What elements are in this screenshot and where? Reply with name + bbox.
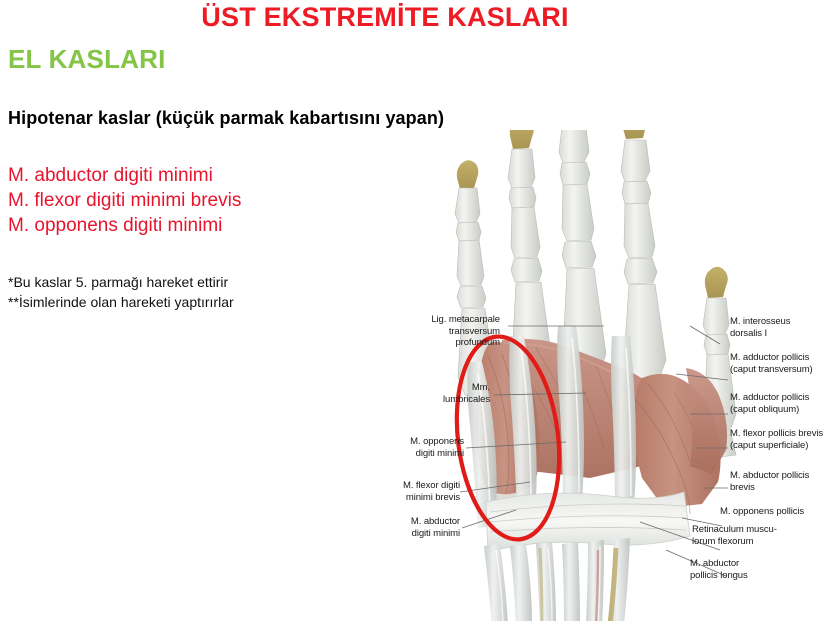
slide-root: ÜST EKSTREMİTE KASLARI EL KASLARI Hipote… (0, 0, 828, 621)
label-retinaculum-musculorum-flexorum: Retinaculum muscu- lorum flexorum (692, 524, 777, 547)
hand-anatomy-svg (390, 130, 828, 621)
topic-heading: Hipotenar kaslar (küçük parmak kabartısı… (8, 108, 444, 129)
label-m-interosseus-dorsalis-i: M. interosseus dorsalis I (730, 316, 790, 339)
muscle-list: M. abductor digiti minimi M. flexor digi… (8, 163, 241, 238)
label-m-abductor-pollicis-longus: M. abductor pollicis longus (690, 558, 748, 581)
footnote-line: *Bu kaslar 5. parmağı hareket ettirir (8, 272, 234, 292)
label-lig-metacarpale-transversum-profundum: Lig. metacarpale transversum profundum (394, 314, 500, 349)
label-mm-lumbricales: Mm. lumbricales (394, 382, 490, 405)
label-m-adductor-pollicis-caput-obliquum: M. adductor pollicis (caput obliquum) (730, 392, 809, 415)
label-m-flexor-pollicis-brevis-caput-superficiale: M. flexor pollicis brevis (caput superfi… (730, 428, 823, 451)
label-m-adductor-pollicis-caput-transversum: M. adductor pollicis (caput transversum) (730, 352, 813, 375)
thenar-muscle-group (628, 368, 727, 514)
label-m-abductor-pollicis-brevis: M. abductor pollicis brevis (730, 470, 809, 493)
footnote-block: *Bu kaslar 5. parmağı hareket ettirir **… (8, 272, 234, 312)
label-m-abductor-digiti-minimi: M. abductor digiti minimi (404, 516, 460, 539)
muscle-list-item: M. flexor digiti minimi brevis (8, 188, 241, 213)
muscle-list-item: M. opponens digiti minimi (8, 213, 241, 238)
forearm-tendon-bundle (484, 538, 630, 621)
hand-anatomy-illustration: Lig. metacarpale transversum profundum M… (390, 130, 828, 621)
label-m-flexor-digiti-minimi-brevis: M. flexor digiti minimi brevis (394, 480, 460, 503)
label-m-opponens-pollicis: M. opponens pollicis (720, 506, 804, 518)
footnote-line: **İsimlerinde olan hareketi yaptırırlar (8, 292, 234, 312)
section-subtitle: EL KASLARI (8, 44, 166, 75)
muscle-list-item: M. abductor digiti minimi (8, 163, 241, 188)
label-m-opponens-digiti-minimi: M. opponens digiti minimi (394, 436, 464, 459)
page-title: ÜST EKSTREMİTE KASLARI (0, 2, 770, 33)
